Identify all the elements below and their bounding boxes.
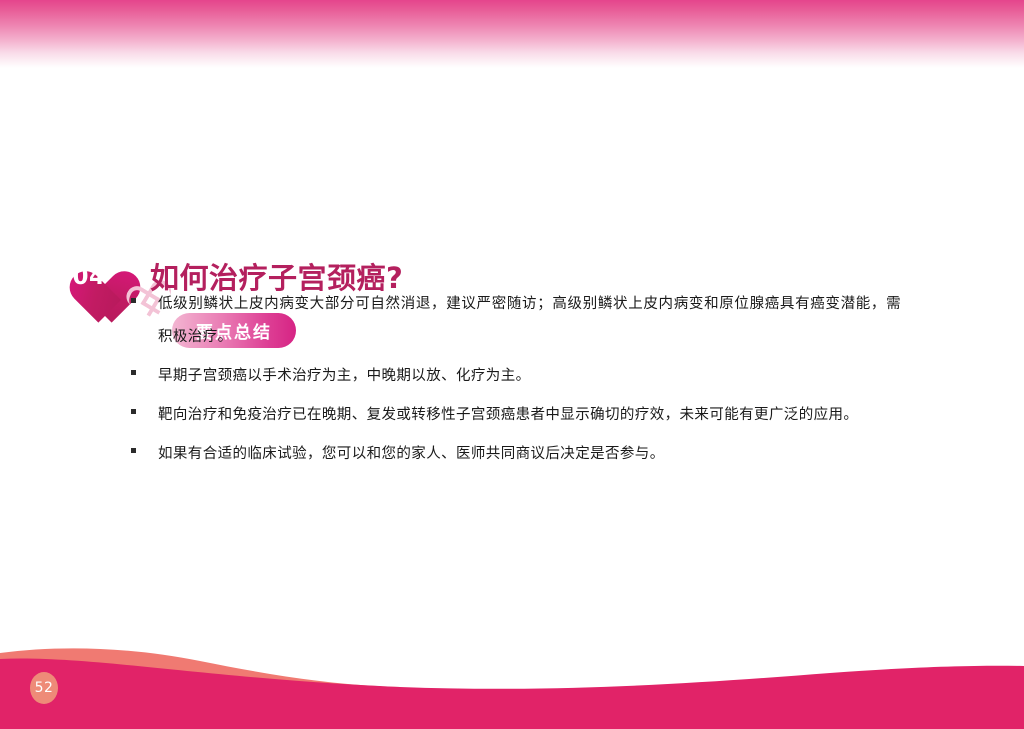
slide-canvas: 04 如何治疗子宫颈癌? 要点总结 低级别鳞状上皮内病变大部分可自然消退，建议严… xyxy=(0,0,1024,729)
bullet-list: 低级别鳞状上皮内病变大部分可自然消退，建议严密随访；高级别鳞状上皮内病变和原位腺… xyxy=(131,288,901,477)
wave-magenta xyxy=(0,659,1024,729)
top-gradient-band xyxy=(0,0,1024,68)
square-bullet-icon xyxy=(131,409,136,414)
bottom-wave-decoration xyxy=(0,639,1024,729)
page-number: 52 xyxy=(35,680,54,696)
list-item: 低级别鳞状上皮内病变大部分可自然消退，建议严密随访；高级别鳞状上皮内病变和原位腺… xyxy=(131,288,901,354)
list-item-text: 低级别鳞状上皮内病变大部分可自然消退，建议严密随访；高级别鳞状上皮内病变和原位腺… xyxy=(158,288,901,354)
list-item: 靶向治疗和免疫治疗已在晚期、复发或转移性子宫颈癌患者中显示确切的疗效，未来可能有… xyxy=(131,399,901,432)
section-number: 04 xyxy=(58,264,120,290)
slide-header: 04 如何治疗子宫颈癌? 要点总结 xyxy=(0,118,1024,248)
list-item-text: 如果有合适的临床试验，您可以和您的家人、医师共同商议后决定是否参与。 xyxy=(158,438,901,471)
square-bullet-icon xyxy=(131,298,136,303)
list-item-text: 早期子宫颈癌以手术治疗为主，中晚期以放、化疗为主。 xyxy=(158,360,901,393)
list-item-text: 靶向治疗和免疫治疗已在晚期、复发或转移性子宫颈癌患者中显示确切的疗效，未来可能有… xyxy=(158,399,901,432)
square-bullet-icon xyxy=(131,448,136,453)
section-heart-badge: 04 xyxy=(58,244,132,312)
square-bullet-icon xyxy=(131,370,136,375)
page-number-badge: 52 xyxy=(30,672,58,704)
list-item: 早期子宫颈癌以手术治疗为主，中晚期以放、化疗为主。 xyxy=(131,360,901,393)
list-item: 如果有合适的临床试验，您可以和您的家人、医师共同商议后决定是否参与。 xyxy=(131,438,901,471)
